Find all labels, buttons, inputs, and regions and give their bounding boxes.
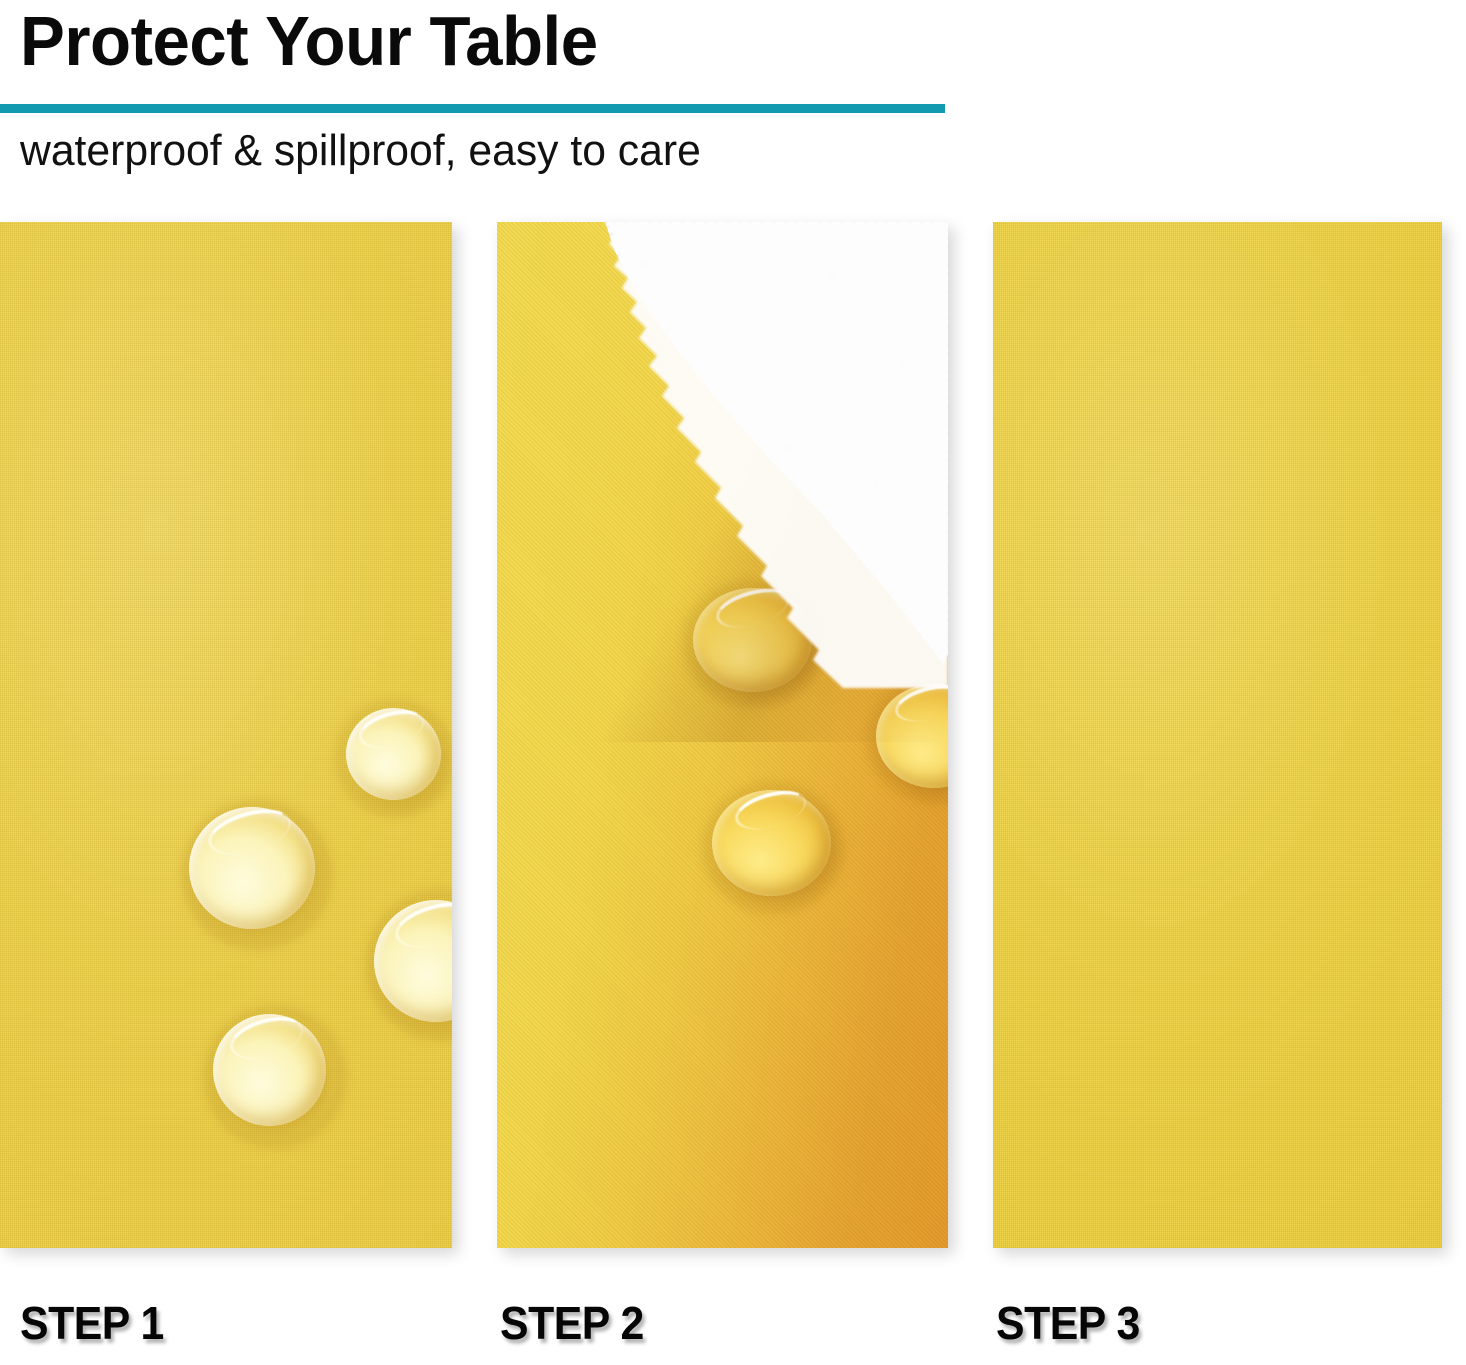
- water-droplet: [189, 807, 315, 929]
- water-droplet: [213, 1014, 326, 1126]
- step-2-image-panel: [497, 222, 948, 1248]
- step-3-label: STEP 3: [996, 1296, 1140, 1350]
- step-3-image-panel: [993, 222, 1442, 1248]
- step-1-image-panel: [0, 222, 452, 1248]
- water-droplet: [346, 708, 441, 800]
- step-caption-row: STEP 1 STEP 2 STEP 3: [0, 1296, 1466, 1365]
- title-divider-rule: [0, 104, 945, 113]
- clean-yellow-fabric-surface: [993, 222, 1442, 1248]
- page-title: Protect Your Table: [20, 6, 598, 76]
- step-1-label: STEP 1: [20, 1296, 164, 1350]
- step-2-label: STEP 2: [500, 1296, 644, 1350]
- page-subtitle: waterproof & spillproof, easy to care: [20, 129, 701, 173]
- water-droplet: [693, 588, 812, 692]
- water-droplet: [712, 790, 831, 896]
- header-block: Protect Your Table waterproof & spillpro…: [0, 0, 1466, 200]
- panel-row: [0, 222, 1466, 1248]
